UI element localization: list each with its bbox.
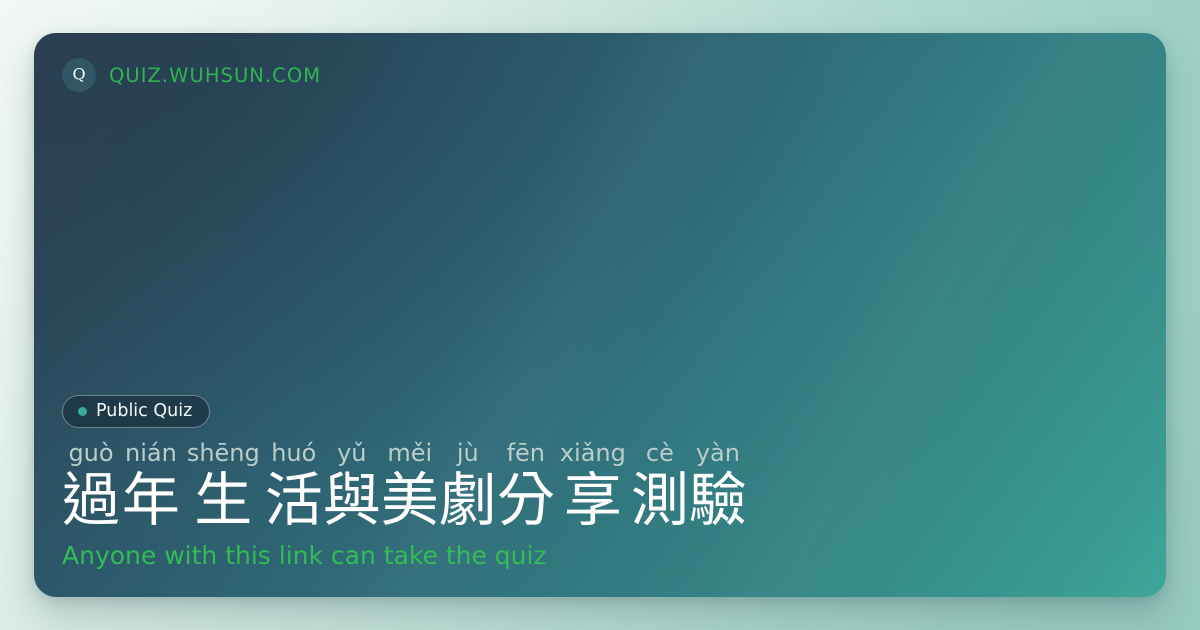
title-ruby-cell: měi美	[381, 441, 439, 533]
title-character: 過	[62, 467, 120, 533]
quiz-logo-icon: Q	[62, 58, 96, 92]
title-ruby-cell: yàn驗	[689, 441, 747, 533]
title-pinyin: yàn	[691, 441, 745, 467]
title-character: 劇	[439, 467, 497, 533]
title-pinyin: fēn	[502, 441, 550, 467]
title-ruby-cell: xiǎng享	[555, 441, 631, 533]
title-pinyin: xiǎng	[555, 441, 631, 467]
title-pinyin: měi	[382, 441, 437, 467]
brand-header[interactable]: Q QUIZ.WUHSUN.COM	[62, 58, 321, 92]
title-pinyin: nián	[120, 441, 182, 467]
og-card-stage: Q QUIZ.WUHSUN.COM Public Quiz guò過nián年s…	[0, 0, 1200, 630]
visibility-status-badge: Public Quiz	[62, 395, 210, 428]
title-ruby-cell: cè測	[631, 441, 689, 533]
status-badge-label: Public Quiz	[96, 403, 192, 421]
title-ruby-cell: jù劇	[439, 441, 497, 533]
title-ruby-cell: guò過	[62, 441, 120, 533]
title-pinyin: yǔ	[332, 441, 371, 467]
title-pinyin: cè	[641, 441, 679, 467]
quiz-subtitle: Anyone with this link can take the quiz	[62, 541, 1126, 571]
title-ruby-cell: huó活	[265, 441, 323, 533]
status-dot-icon	[78, 407, 87, 416]
site-domain-label: QUIZ.WUHSUN.COM	[109, 64, 321, 87]
title-character: 享	[564, 467, 622, 533]
title-character: 測	[631, 467, 689, 533]
title-character: 驗	[689, 467, 747, 533]
title-ruby-cell: shēng生	[182, 441, 265, 533]
quiz-logo-letter: Q	[72, 67, 85, 83]
title-pinyin: jù	[452, 441, 484, 467]
title-pinyin: huó	[266, 441, 321, 467]
title-character: 分	[497, 467, 555, 533]
title-character: 生	[194, 467, 252, 533]
title-character: 美	[381, 467, 439, 533]
title-ruby-cell: nián年	[120, 441, 182, 533]
title-ruby-cell: fēn分	[497, 441, 555, 533]
title-character: 年	[122, 467, 180, 533]
card-content: Public Quiz guò過nián年shēng生huó活yǔ與měi美jù…	[62, 395, 1126, 571]
quiz-preview-card: Q QUIZ.WUHSUN.COM Public Quiz guò過nián年s…	[34, 33, 1166, 597]
title-pinyin: shēng	[182, 441, 265, 467]
title-character: 活	[265, 467, 323, 533]
title-ruby-cell: yǔ與	[323, 441, 381, 533]
quiz-title: guò過nián年shēng生huó活yǔ與měi美jù劇fēn分xiǎng享c…	[62, 441, 1126, 533]
title-pinyin: guò	[63, 441, 118, 467]
title-character: 與	[323, 467, 381, 533]
